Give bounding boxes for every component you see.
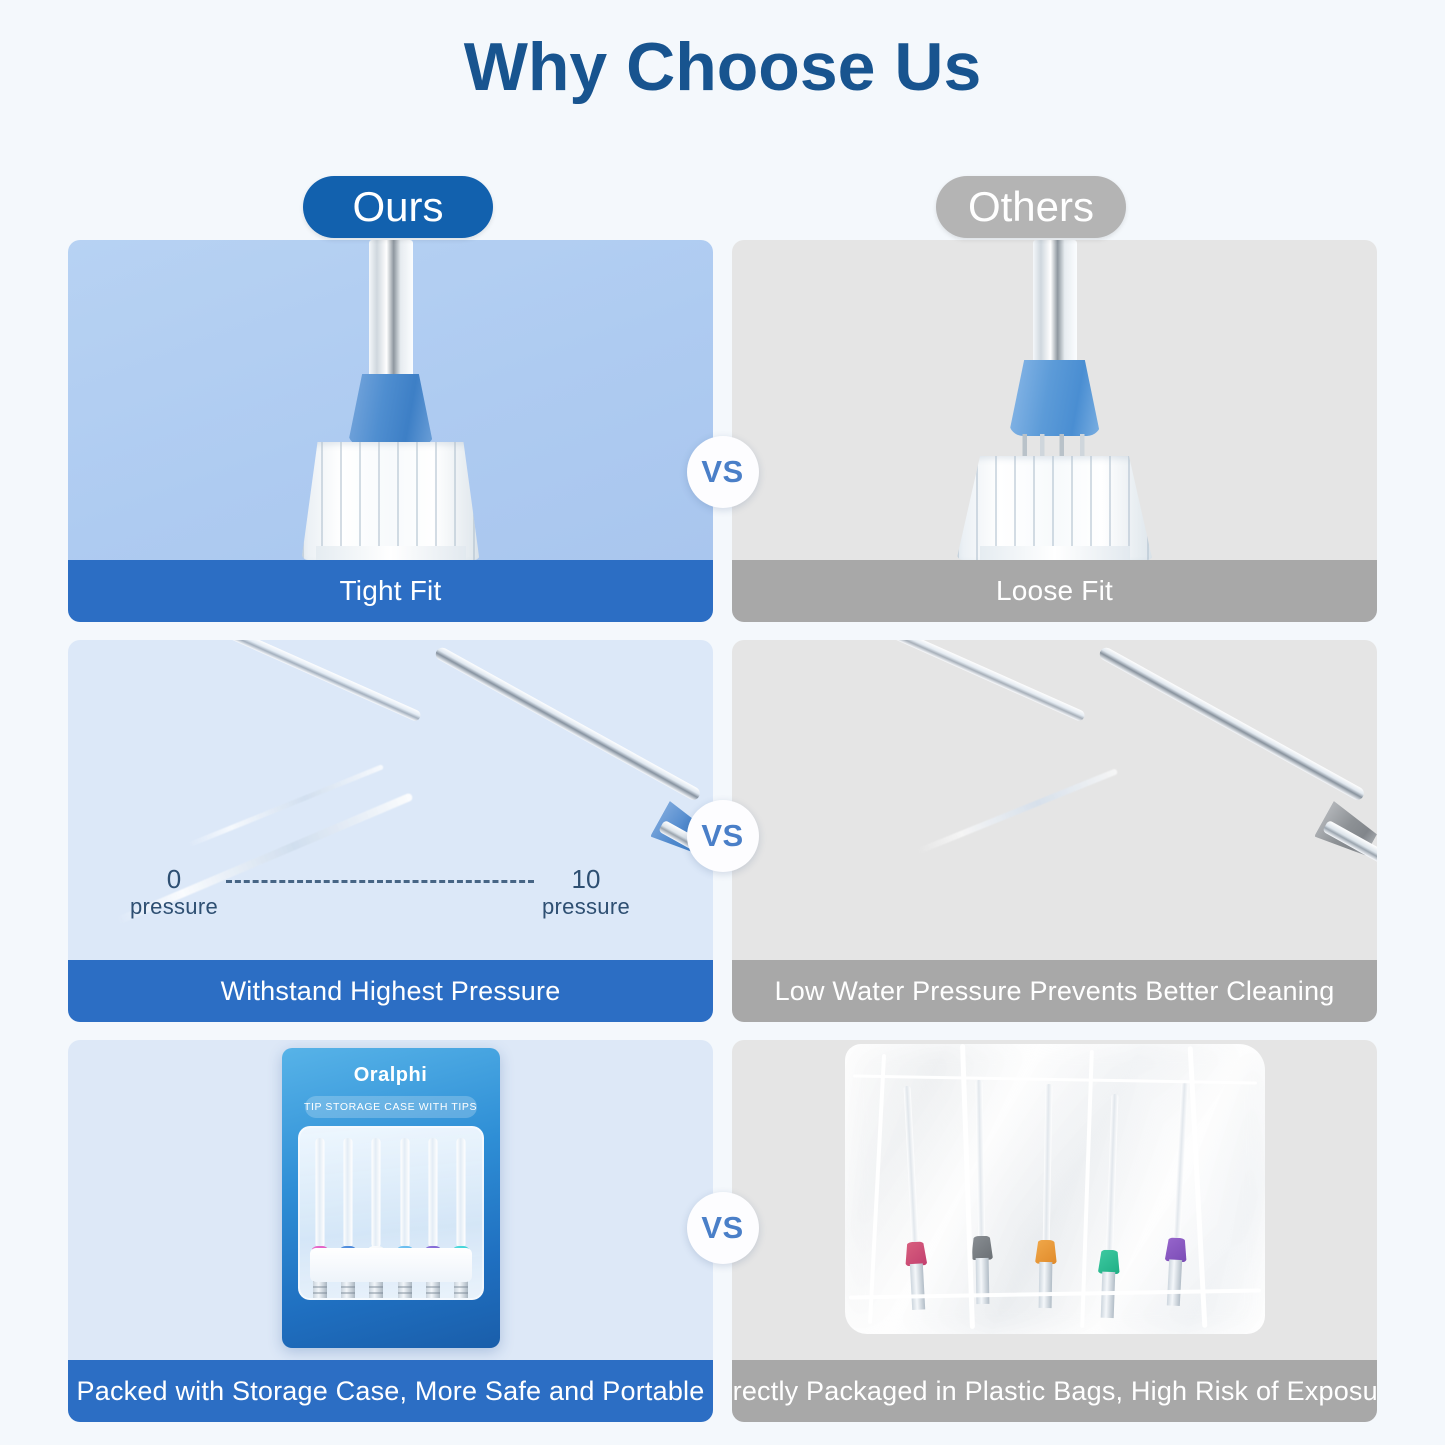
tip-cap-icon [1164,1237,1187,1262]
tip-stem-icon [975,1080,985,1240]
ours-packaging-image: Oralphi TIP STORAGE CASE WITH TIPS [68,1040,713,1360]
wand-lower-arm-icon [1097,645,1366,802]
white-handle-icon [957,456,1153,560]
package-brand: Oralphi [282,1064,500,1087]
comparison-grid: Ours Others Tight Fit VS [68,176,1377,1440]
white-handle-icon [302,442,480,560]
bagged-tip-set [889,1080,1225,1310]
tip-cap-icon [1097,1250,1120,1275]
tip-stem-icon [343,1138,352,1248]
others-packaging-image [732,1040,1377,1360]
others-card-packaging: Directly Packaged in Plastic Bags, High … [732,1040,1377,1422]
comparison-row-pressure: 0 pressure 10 pressure Withstand Highest… [68,640,1377,1022]
others-packaging-caption: Directly Packaged in Plastic Bags, High … [732,1360,1377,1422]
others-pressure-image [732,640,1377,960]
tip-stem-icon [457,1138,466,1248]
pressure-max-value: 10 [542,866,630,892]
tip-body-icon [1166,1259,1181,1306]
case-tray [298,1126,484,1300]
tip-cap-icon [970,1236,992,1260]
pressure-scale-dashes [226,880,534,883]
water-jet-secondary-icon [187,764,384,847]
metal-tube-icon [1033,240,1077,372]
others-card-fit: Loose Fit [732,240,1377,622]
ours-packaging-caption: Packed with Storage Case, More Safe and … [68,1360,713,1422]
tip-cap-icon [1034,1240,1056,1264]
ours-card-packaging: Oralphi TIP STORAGE CASE WITH TIPS [68,1040,713,1422]
bagged-tip-item [899,1086,915,1087]
blue-collar-icon [348,374,434,446]
package-subtitle: TIP STORAGE CASE WITH TIPS [305,1096,477,1118]
page-title: Why Choose Us [0,0,1445,106]
wand-weak-illustration [732,640,1377,960]
pressure-scale-max: 10 pressure [542,866,630,918]
tip-stem-icon [428,1138,437,1248]
others-fit-caption: Loose Fit [732,560,1377,622]
tip-stem-icon [372,1138,381,1248]
tip-stem-icon [903,1086,918,1246]
bagged-tip-item [1107,1094,1123,1095]
tip-body-icon [1038,1262,1052,1308]
tip-stem-icon [1042,1084,1052,1244]
pressure-scale: 0 pressure 10 pressure [130,866,630,918]
ours-card-pressure: 0 pressure 10 pressure Withstand Highest… [68,640,713,1022]
vs-badge-pressure: VS [687,800,759,872]
ours-pill: Ours [303,176,493,238]
others-pressure-caption: Low Water Pressure Prevents Better Clean… [732,960,1377,1022]
vs-badge-packaging: VS [687,1192,759,1264]
ours-fit-caption: Tight Fit [68,560,713,622]
tip-body-icon [909,1263,924,1310]
ours-card-fit: Tight Fit [68,240,713,622]
handle-base-icon [316,546,466,560]
pressure-min-value: 0 [130,866,218,892]
tip-stem-icon [1105,1094,1118,1254]
others-pill: Others [936,176,1126,238]
storage-case-package: Oralphi TIP STORAGE CASE WITH TIPS [282,1048,500,1348]
handle-base-icon [980,546,1130,560]
others-fit-image [732,240,1377,560]
others-card-pressure: Low Water Pressure Prevents Better Clean… [732,640,1377,1022]
ours-fit-image [68,240,713,560]
column-header-row: Ours Others [68,176,1377,240]
tip-cap-icon [904,1241,927,1266]
nozzle-tight-illustration [261,240,521,560]
metal-tube-icon [369,240,413,380]
wand-upper-arm-icon [156,640,422,723]
wand-lower-arm-icon [433,645,702,802]
nozzle-loose-illustration [925,240,1185,560]
pressure-scale-min: 0 pressure [130,866,218,918]
ours-pressure-caption: Withstand Highest Pressure [68,960,713,1022]
ours-pressure-image: 0 pressure 10 pressure [68,640,713,960]
tip-stem-icon [1173,1082,1188,1242]
tray-base-icon [310,1248,472,1282]
pressure-min-label: pressure [130,896,218,918]
comparison-row-fit: Tight Fit VS Loose Fit [68,240,1377,622]
tip-stem-icon [400,1138,409,1248]
wand-upper-arm-icon [820,640,1086,723]
blue-collar-icon [1009,360,1101,436]
pressure-max-label: pressure [542,896,630,918]
tip-stem-icon [315,1138,324,1248]
vs-badge-fit: VS [687,436,759,508]
water-jet-icon [917,768,1119,854]
comparison-row-packaging: Oralphi TIP STORAGE CASE WITH TIPS [68,1040,1377,1422]
plastic-bag-illustration [845,1044,1265,1334]
